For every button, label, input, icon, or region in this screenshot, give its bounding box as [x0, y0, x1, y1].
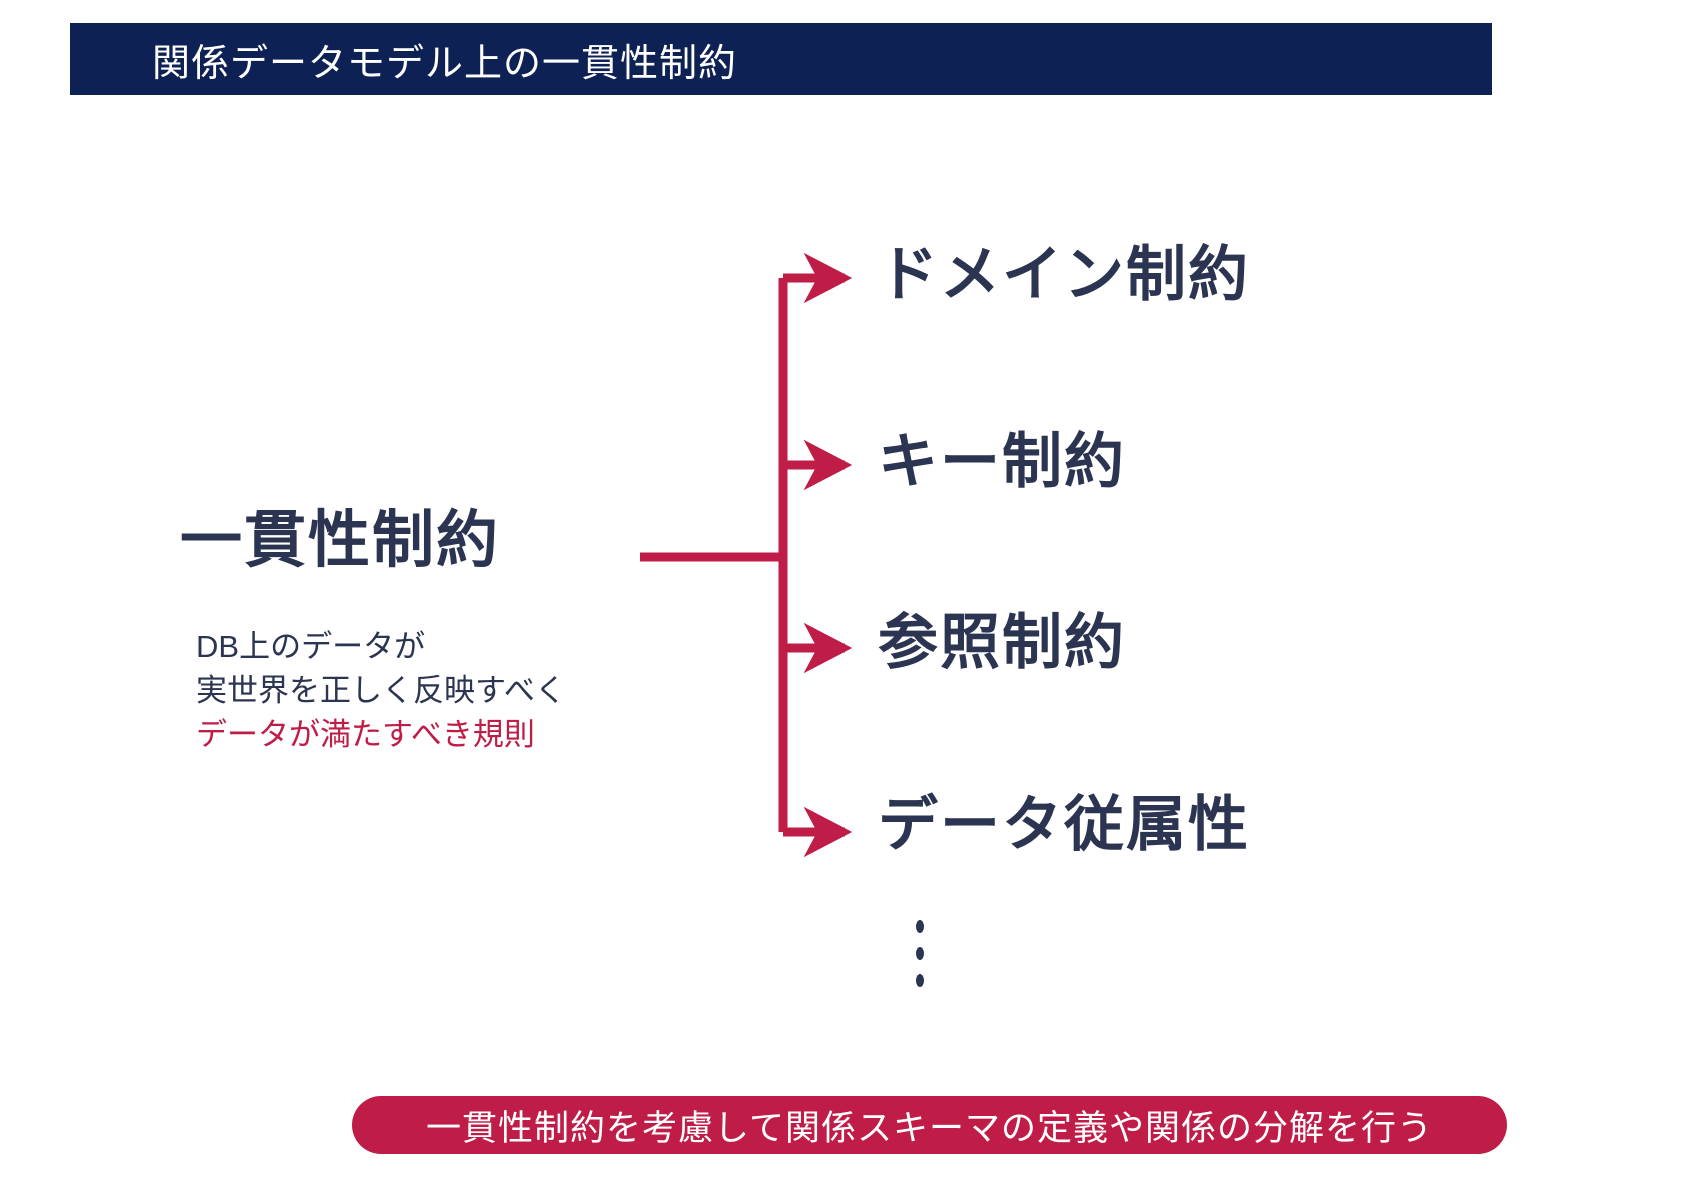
tree-connector-diagram: [0, 0, 1684, 1191]
summary-banner-text: 一貫性制約を考慮して関係スキーマの定義や関係の分解を行う: [426, 1100, 1433, 1151]
summary-banner: 一貫性制約を考慮して関係スキーマの定義や関係の分解を行う: [352, 1096, 1507, 1154]
branch-label-key-constraint: キー制約: [878, 432, 1126, 492]
root-node-label: 一貫性制約: [180, 508, 680, 575]
ellipsis-dot: [916, 974, 924, 987]
root-description: DB上のデータが 実世界を正しく反映すべく データが満たすべき規則: [196, 625, 716, 757]
slide-title-bar: 関係データモデル上の一貫性制約: [70, 23, 1492, 95]
branch-label-data-dependency: データ従属性: [878, 795, 1250, 855]
root-description-line-2: 実世界を正しく反映すべく: [196, 669, 716, 713]
slide-canvas: 関係データモデル上の一貫性制約 一貫性制約 DB上のデータが 実世界を正しく反映…: [0, 0, 1684, 1191]
root-description-line-3: データが満たすべき規則: [196, 713, 716, 757]
root-node: 一貫性制約: [180, 508, 680, 575]
branch-label-domain-constraint: ドメイン制約: [878, 245, 1250, 305]
ellipsis-dot: [916, 920, 924, 933]
root-description-line-1: DB上のデータが: [196, 625, 716, 669]
branch-label-referential-constraint: 参照制約: [878, 613, 1126, 673]
vertical-ellipsis-icon: [900, 920, 940, 987]
ellipsis-dot: [916, 947, 924, 960]
slide-title-text: 関係データモデル上の一貫性制約: [70, 32, 737, 87]
